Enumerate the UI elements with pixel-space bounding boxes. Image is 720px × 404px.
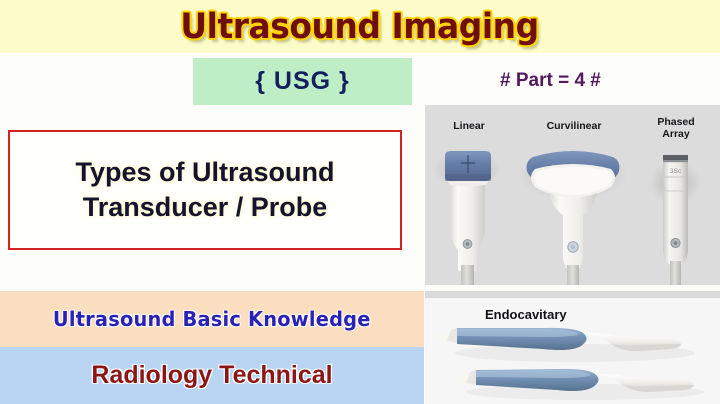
slide-canvas: Ultrasound Imaging { USG } # Part = 4 # … bbox=[0, 0, 720, 404]
header-band: Ultrasound Imaging bbox=[0, 0, 720, 53]
part-number-label: # Part = 4 # bbox=[500, 65, 680, 97]
probe-label-phased-array: Phased Array bbox=[649, 117, 703, 141]
page-title: Ultrasound Imaging bbox=[181, 7, 539, 47]
phased-array-model-text: 3Sc bbox=[670, 168, 682, 175]
usg-abbreviation-label: { USG } bbox=[255, 67, 350, 96]
endocavitary-label: Endocavitary bbox=[485, 307, 567, 322]
topic-title-box: Types of Ultrasound Transducer / Probe bbox=[8, 130, 402, 250]
probe-types-photo: 3Sc Linear Curvilinear Phased Array bbox=[425, 105, 720, 285]
topic-title-line-2: Transducer / Probe bbox=[83, 191, 328, 224]
endocavitary-illustration bbox=[425, 291, 720, 404]
usg-abbreviation-chip: { USG } bbox=[193, 58, 412, 105]
probe-label-linear: Linear bbox=[447, 121, 491, 133]
channel-banner-label: Radiology Technical bbox=[91, 361, 332, 390]
endocavitary-probe-photo: Endocavitary bbox=[425, 291, 720, 404]
topic-title-line-1: Types of Ultrasound bbox=[75, 156, 334, 189]
series-banner-label: Ultrasound Basic Knowledge bbox=[53, 307, 371, 331]
channel-banner: Radiology Technical bbox=[0, 347, 424, 404]
series-banner: Ultrasound Basic Knowledge bbox=[0, 291, 424, 347]
probe-label-curvilinear: Curvilinear bbox=[541, 121, 607, 133]
